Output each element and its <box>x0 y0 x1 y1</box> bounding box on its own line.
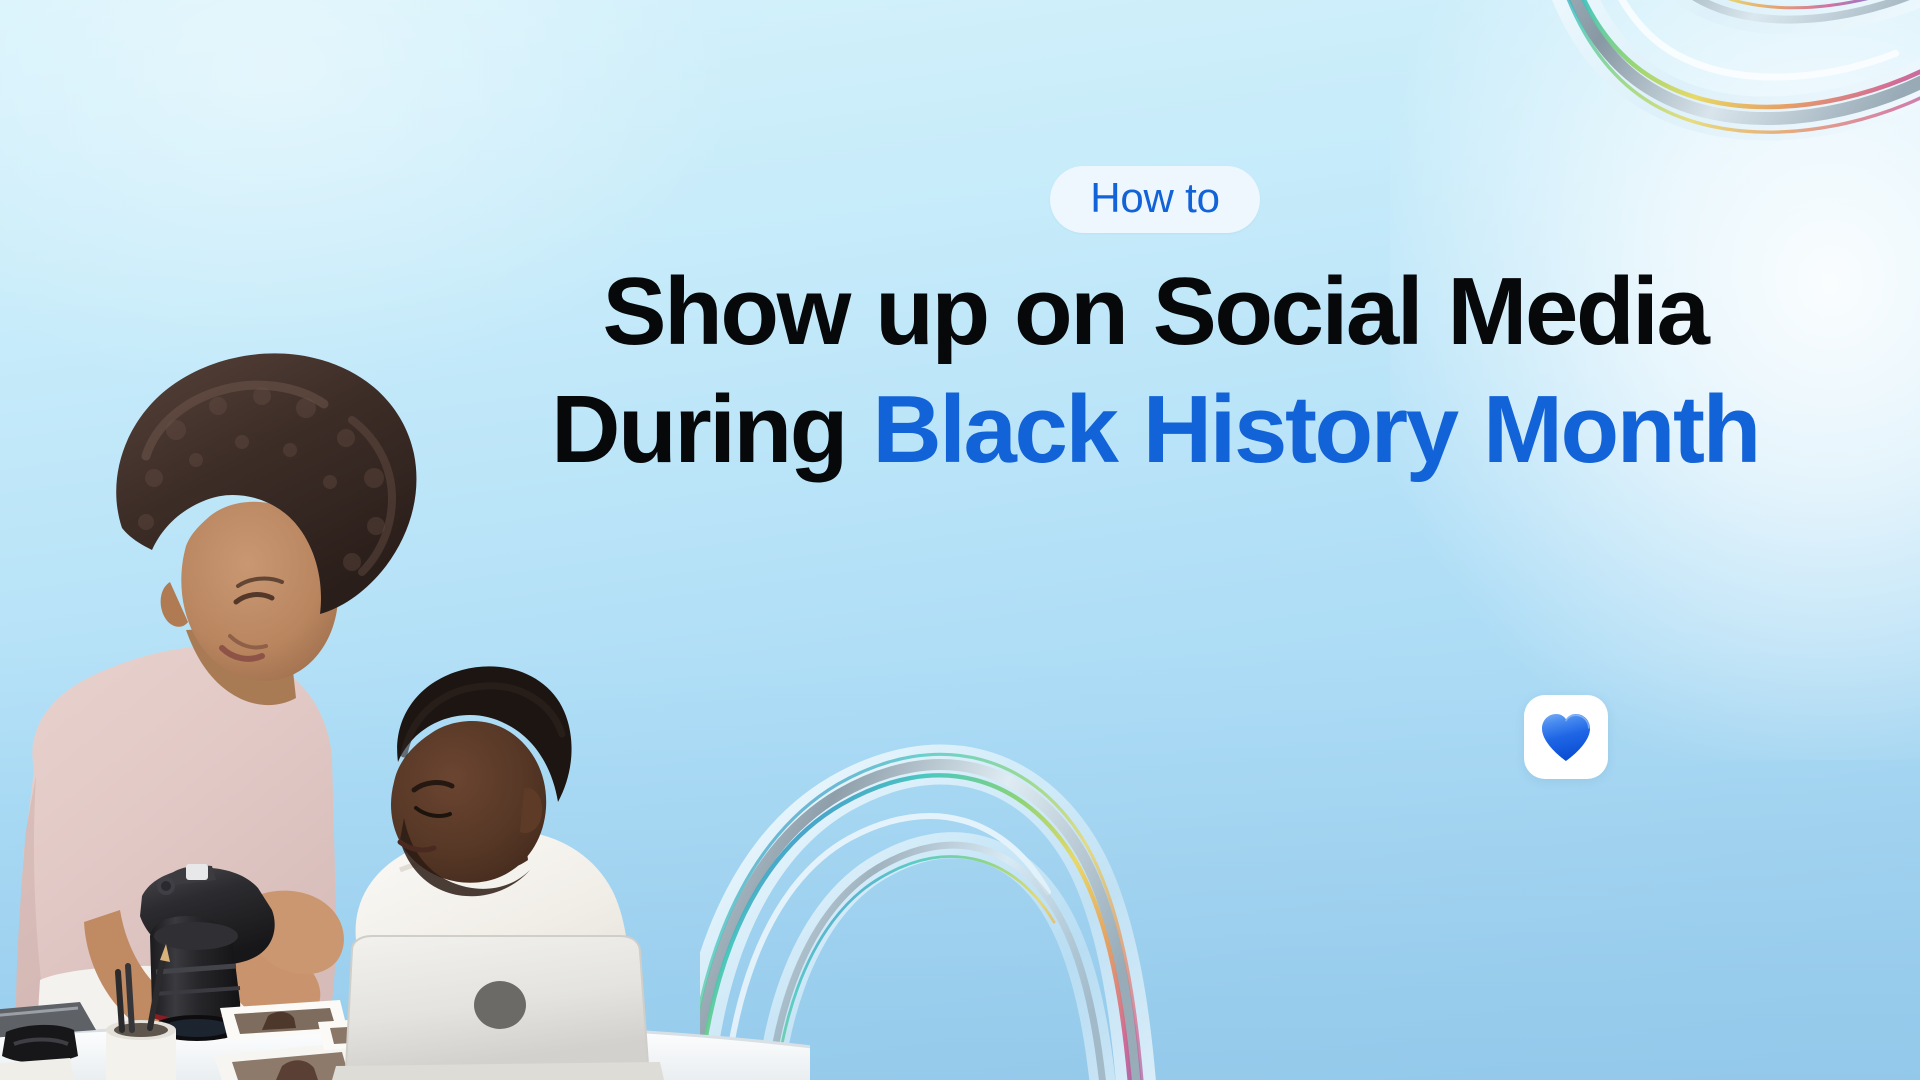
hero-text-block: How to Show up on Social Media During Bl… <box>455 166 1855 478</box>
headline-line-2: During Black History Month <box>455 382 1855 478</box>
hero-banner: How to Show up on Social Media During Bl… <box>0 0 1920 1080</box>
blue-heart-icon <box>1538 711 1594 763</box>
page-title: Show up on Social Media During Black His… <box>455 264 1855 478</box>
category-badge[interactable]: How to <box>1050 166 1260 233</box>
headline-line-2-plain: During <box>551 376 872 483</box>
background-gradient <box>0 0 1920 1080</box>
headline-line-2-accent: Black History Month <box>872 376 1759 483</box>
blue-heart-tile[interactable] <box>1524 695 1608 779</box>
headline-line-1: Show up on Social Media <box>455 264 1855 360</box>
